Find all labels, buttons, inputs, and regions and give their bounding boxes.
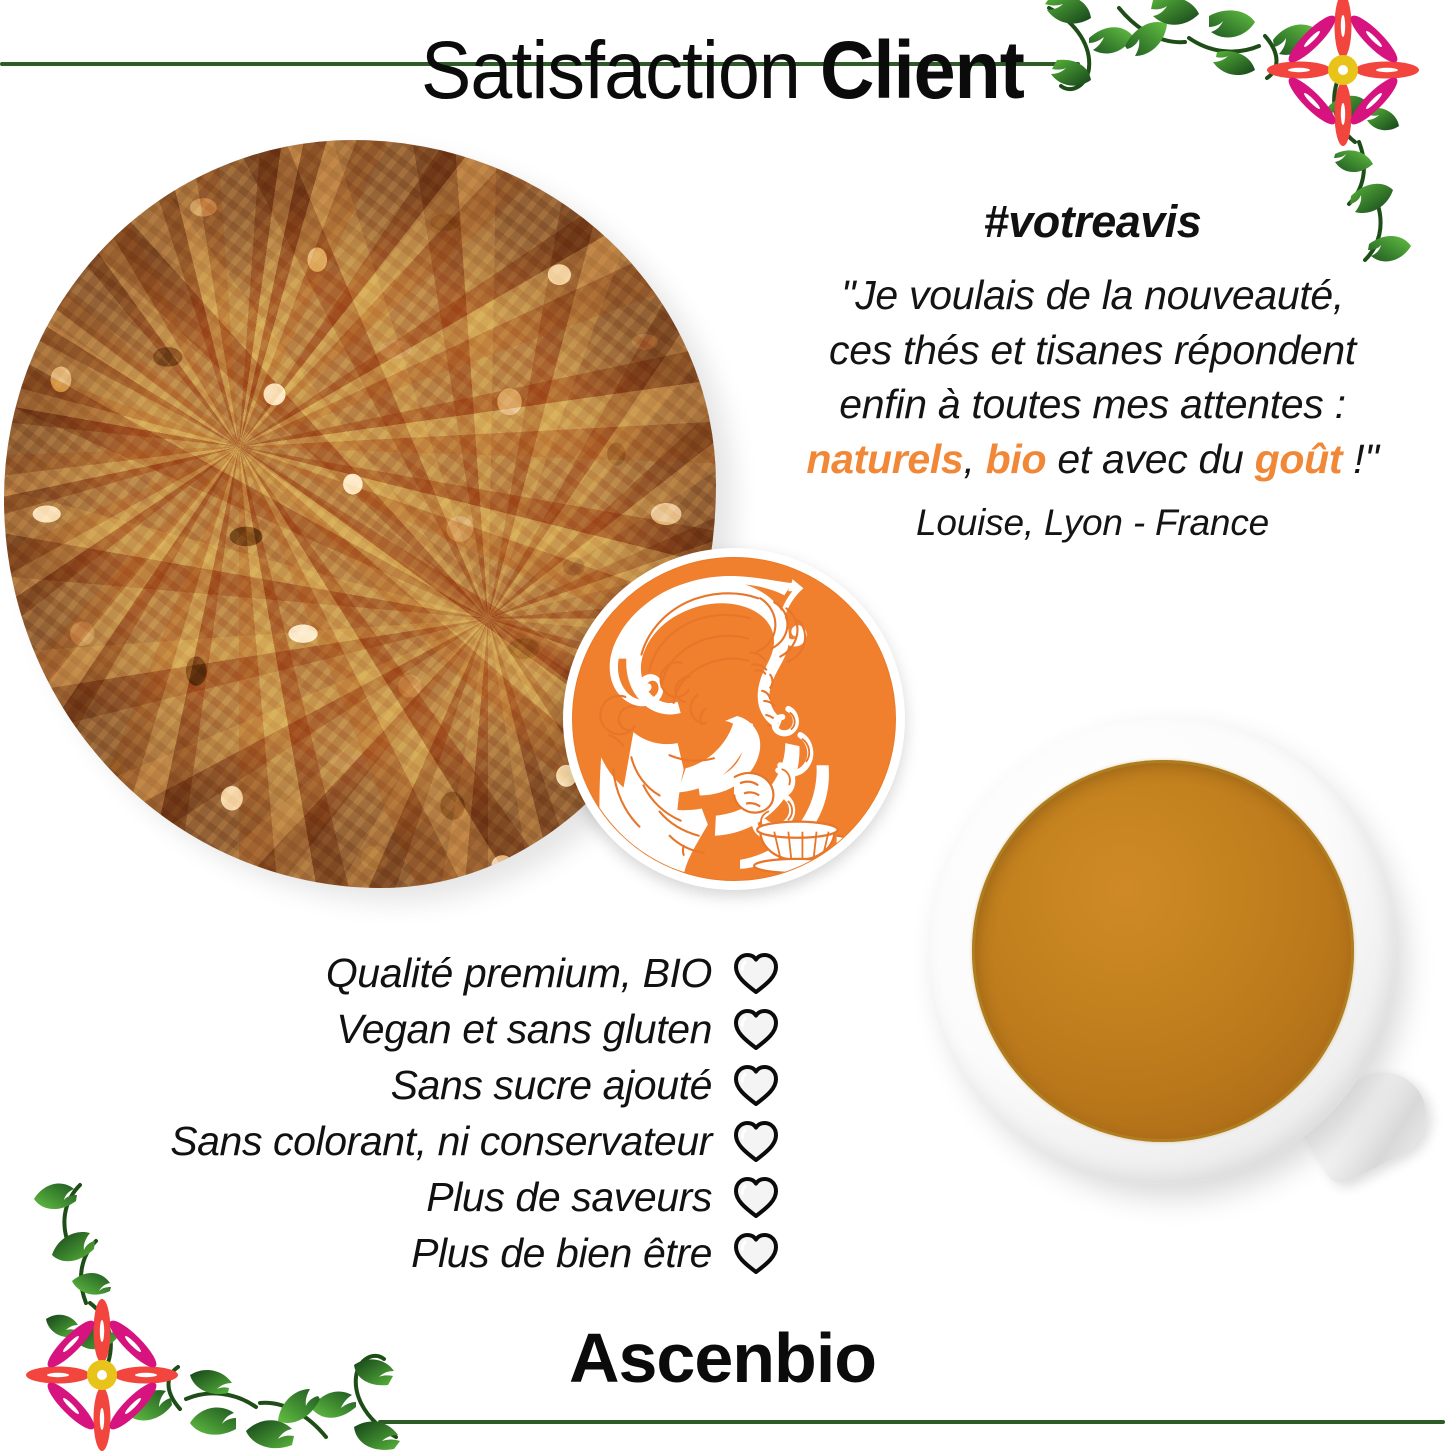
benefit-label: Plus de saveurs: [426, 1174, 712, 1221]
list-item: Vegan et sans gluten: [40, 1004, 780, 1054]
benefit-label: Vegan et sans gluten: [336, 1006, 712, 1053]
quote-line-3: enfin à toutes mes attentes :: [760, 377, 1425, 432]
logo-medallion-icon: [572, 557, 896, 881]
page-title-bold: Client: [820, 25, 1024, 116]
testimonial-quote: "Je voulais de la nouveauté, ces thés et…: [760, 268, 1425, 486]
quote-mid: et avec du: [1046, 436, 1254, 482]
page-title-light: Satisfaction: [421, 25, 820, 116]
quote-highlight-naturels: naturels: [806, 436, 963, 482]
testimonial-author: Louise, Lyon - France: [760, 502, 1425, 544]
brand-logo: [563, 548, 905, 890]
heart-icon: [732, 1007, 780, 1051]
divider-line-bottom: [378, 1420, 1445, 1424]
list-item: Qualité premium, BIO: [40, 948, 780, 998]
benefit-label: Plus de bien être: [411, 1230, 712, 1277]
quote-highlight-bio: bio: [986, 436, 1047, 482]
heart-icon: [732, 1231, 780, 1275]
quote-line-2: ces thés et tisanes répondent: [760, 323, 1425, 378]
quote-end: !": [1342, 436, 1378, 482]
benefit-label: Qualité premium, BIO: [326, 950, 712, 997]
heart-icon: [732, 951, 780, 995]
heart-icon: [732, 1063, 780, 1107]
heart-icon: [732, 1175, 780, 1219]
cup-body: [930, 718, 1396, 1184]
floral-vine-corner-ornament-top-right: [1021, 0, 1445, 290]
benefit-label: Sans sucre ajouté: [391, 1062, 712, 1109]
list-item: Sans sucre ajouté: [40, 1060, 780, 1110]
heart-icon: [732, 1119, 780, 1163]
floral-vine-corner-ornament-bottom-left: [0, 1155, 424, 1455]
tea-liquid: [972, 760, 1354, 1142]
quote-sep-1: ,: [963, 436, 985, 482]
quote-highlight-gout: goût: [1255, 436, 1343, 482]
tea-cup-top-view-image: [930, 718, 1430, 1218]
quote-line-4: naturels, bio et avec du goût !": [760, 432, 1425, 487]
